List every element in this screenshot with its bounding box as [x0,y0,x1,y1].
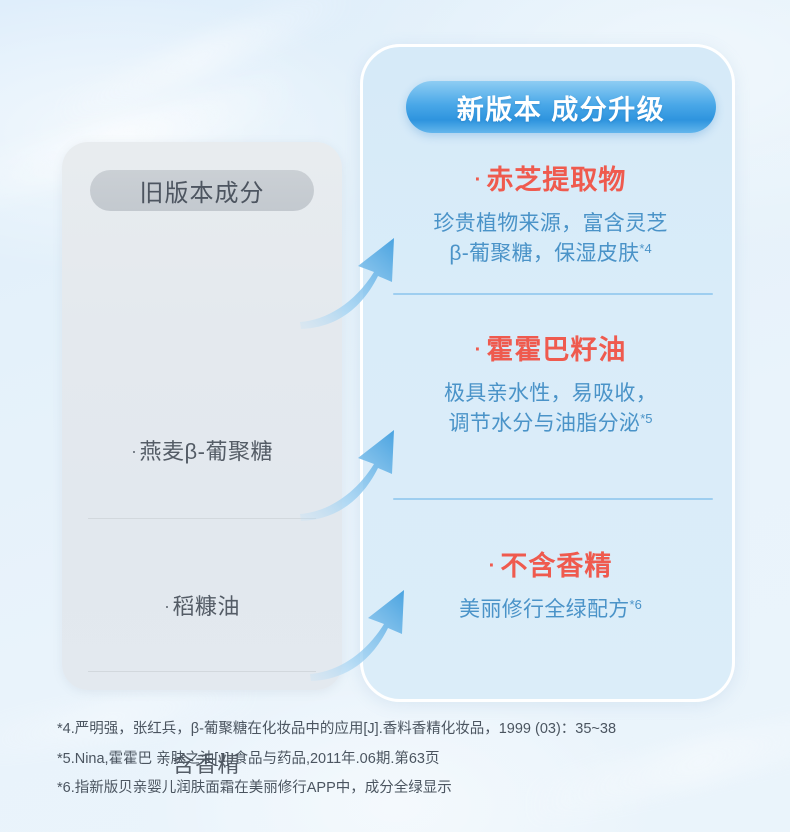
old-ingredient-item: ·稻糠油 [62,589,342,621]
new-ingredient-title-label: 霍霍巴籽油 [486,335,626,365]
bullet-dot-icon: · [475,169,483,191]
footnote-ref: *6 [630,597,642,612]
footnotes: *4.严明强，张红兵，β-葡聚糖在化妆品中的应用[J].香料香精化妆品，1999… [57,722,757,811]
footnote-line: *6.指新版贝亲婴儿润肤面霜在美丽修行APP中，成分全绿显示 [57,781,757,796]
description-line: β-葡聚糖，保湿皮肤*4 [363,239,738,269]
old-ingredient-label: 稻糠油 [172,594,240,619]
footnote-ref: *5 [640,411,652,426]
background-light-wisp [45,0,354,133]
old-ingredient-item: ·燕麦β-葡聚糖 [62,434,342,466]
old-card-divider [88,671,316,672]
new-ingredient-title-label: 赤芝提取物 [486,165,626,195]
footnote-ref: *4 [639,241,651,256]
bullet-dot-icon: · [131,441,138,461]
new-ingredient-description: 极具亲水性，易吸收， 调节水分与油脂分泌*5 [363,379,738,439]
new-ingredient-section: ·赤芝提取物 珍贵植物来源，富含灵芝 β-葡聚糖，保湿皮肤*4 [363,164,738,268]
new-version-badge: 新版本 成分升级 [406,81,716,133]
new-ingredient-title: ·霍霍巴籽油 [363,334,738,368]
description-line: 调节水分与油脂分泌*5 [363,409,738,439]
old-version-card: 旧版本成分 ·燕麦β-葡聚糖 ·稻糠油 ·含香精 [62,142,342,690]
new-ingredient-title-label: 不含香精 [500,551,612,581]
description-line: 极具亲水性，易吸收， [363,379,738,409]
old-ingredient-label: 燕麦β-葡聚糖 [140,439,273,464]
new-ingredient-description: 珍贵植物来源，富含灵芝 β-葡聚糖，保湿皮肤*4 [363,209,738,269]
description-line: 珍贵植物来源，富含灵芝 [363,209,738,239]
new-ingredient-title: ·赤芝提取物 [363,164,738,198]
new-version-card: 新版本 成分升级 ·赤芝提取物 珍贵植物来源，富含灵芝 β-葡聚糖，保湿皮肤*4… [360,44,735,702]
bullet-dot-icon: · [489,555,497,577]
footnote-line: *5.Nina,霍霍巴 亲肤之油[J].食品与药品,2011年.06期.第63页 [57,752,757,767]
old-version-badge-label: 旧版本成分 [140,173,265,208]
bullet-dot-icon: · [164,596,171,616]
description-line-text: 调节水分与油脂分泌 [449,412,641,435]
new-card-divider [393,498,713,500]
old-card-divider [88,518,316,519]
new-version-badge-label: 新版本 成分升级 [457,88,666,127]
old-version-badge: 旧版本成分 [90,170,314,211]
description-line-text: 美丽修行全绿配方 [459,598,629,621]
new-ingredient-section: ·不含香精 美丽修行全绿配方*6 [363,550,738,625]
new-ingredient-description: 美丽修行全绿配方*6 [363,595,738,625]
new-ingredient-title: ·不含香精 [363,550,738,584]
description-line: 美丽修行全绿配方*6 [363,595,738,625]
footnote-line: *4.严明强，张红兵，β-葡聚糖在化妆品中的应用[J].香料香精化妆品，1999… [57,722,757,737]
new-ingredient-section: ·霍霍巴籽油 极具亲水性，易吸收， 调节水分与油脂分泌*5 [363,334,738,438]
promo-graphic: 旧版本成分 ·燕麦β-葡聚糖 ·稻糠油 ·含香精 新版本 成分升级 ·赤芝提取物… [0,0,790,832]
bullet-dot-icon: · [475,339,483,361]
new-card-divider [393,293,713,295]
description-line-text: β-葡聚糖，保湿皮肤 [449,242,639,265]
